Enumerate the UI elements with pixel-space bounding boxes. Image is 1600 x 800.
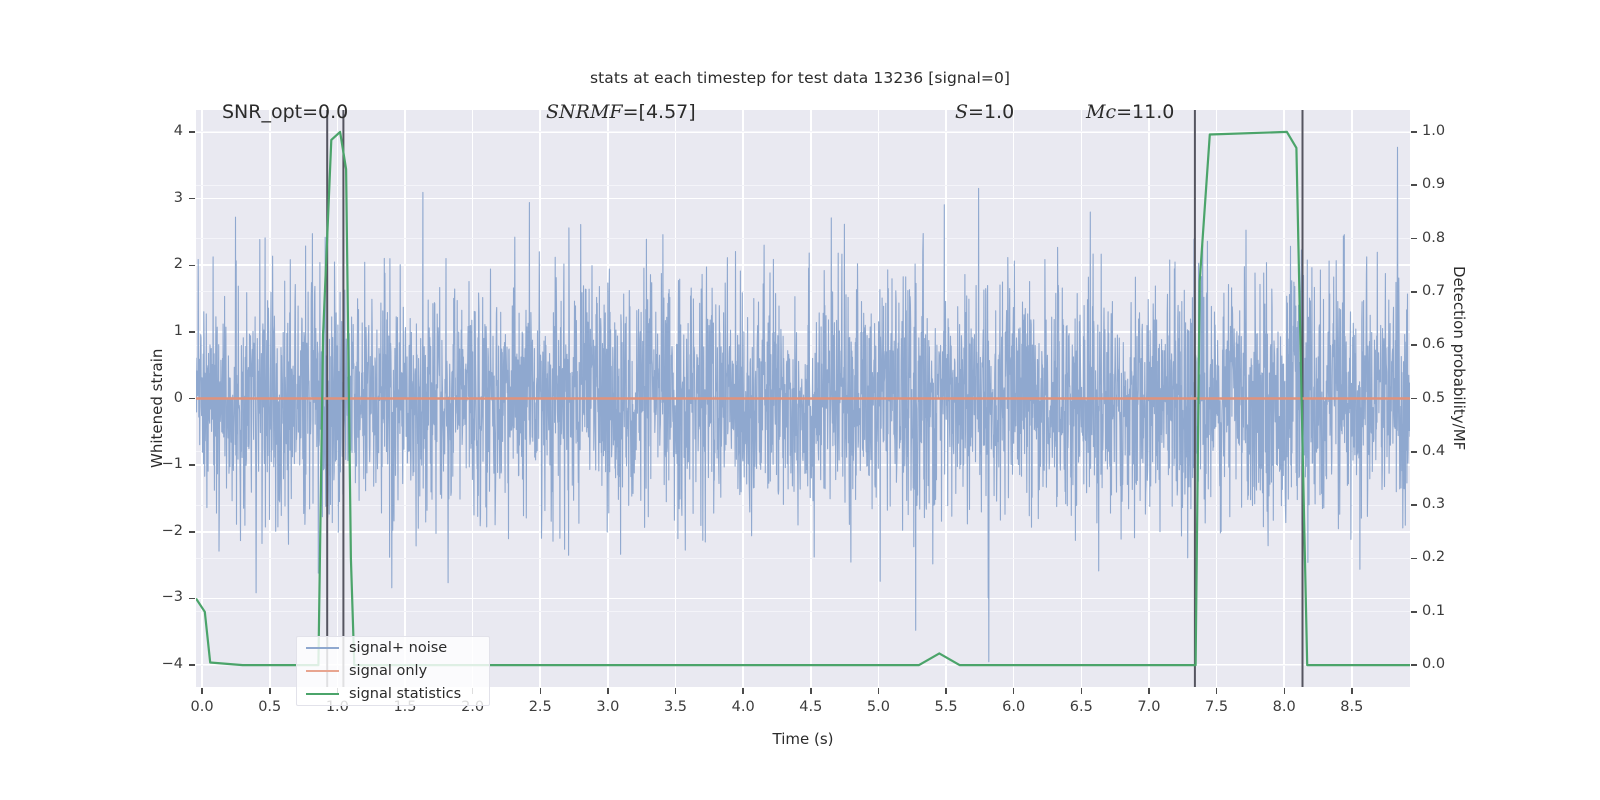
tick-mark xyxy=(1411,238,1417,240)
annotation-s-value: =1.0 xyxy=(968,101,1014,123)
page-title: stats at each timestep for test data 132… xyxy=(0,69,1600,87)
annotation-mc-symbol: M xyxy=(1086,101,1105,123)
tick-mark xyxy=(189,265,195,267)
annotation-snr-mf-symbol: SNR xyxy=(546,101,590,123)
tick-mark xyxy=(189,531,195,533)
annotation-snr-mf: SNRMF=[4.57] xyxy=(546,101,696,123)
tick-mark xyxy=(1148,688,1150,694)
legend-item-2[interactable]: signal statistics xyxy=(297,684,489,705)
tick-label: −3 xyxy=(0,589,183,605)
y-axis-left-label: Whitened strain xyxy=(148,349,166,468)
tick-label: 5.5 xyxy=(916,699,976,715)
tick-label: −4 xyxy=(0,656,183,672)
gravitational-wave-stats-figure: stats at each timestep for test data 132… xyxy=(0,0,1600,800)
tick-mark xyxy=(1284,688,1286,694)
tick-mark xyxy=(1411,344,1417,346)
tick-mark xyxy=(1216,688,1218,694)
legend-label: signal+ noise xyxy=(349,640,447,656)
legend-label: signal only xyxy=(349,663,427,679)
tick-mark xyxy=(1411,131,1417,133)
tick-label: 8.5 xyxy=(1322,699,1382,715)
tick-label: 7.0 xyxy=(1119,699,1179,715)
tick-label: 2 xyxy=(0,256,183,272)
tick-label: 8.0 xyxy=(1254,699,1314,715)
tick-label: 5.0 xyxy=(848,699,908,715)
tick-label: 1.0 xyxy=(1422,123,1445,139)
tick-label: 0.8 xyxy=(1422,230,1445,246)
tick-mark xyxy=(878,688,880,694)
tick-mark xyxy=(1411,611,1417,613)
annotation-snr-mf-value: =[4.57] xyxy=(623,101,696,123)
plot-area xyxy=(196,110,1410,687)
tick-label: 0.7 xyxy=(1422,283,1445,299)
tick-label: 0.0 xyxy=(1422,656,1445,672)
legend-swatch-icon xyxy=(306,670,339,672)
tick-label: 4.0 xyxy=(713,699,773,715)
tick-mark xyxy=(1013,688,1015,694)
tick-mark xyxy=(607,688,609,694)
tick-mark xyxy=(189,598,195,600)
legend[interactable]: signal+ noisesignal onlysignal statistic… xyxy=(296,636,490,706)
tick-label: 0.9 xyxy=(1422,176,1445,192)
tick-mark xyxy=(1411,504,1417,506)
tick-mark xyxy=(189,198,195,200)
tick-mark xyxy=(269,688,271,694)
annotation-snr-mf-subscript: M xyxy=(590,101,609,123)
series-signal-statistics xyxy=(196,110,1410,687)
tick-mark xyxy=(810,688,812,694)
tick-label: −2 xyxy=(0,523,183,539)
annotation-mc: Mc=11.0 xyxy=(1086,101,1174,123)
legend-swatch-icon xyxy=(306,647,339,649)
tick-mark xyxy=(742,688,744,694)
tick-mark xyxy=(1411,558,1417,560)
tick-label: 6.5 xyxy=(1051,699,1111,715)
annotation-mc-value: =11.0 xyxy=(1116,101,1174,123)
tick-mark xyxy=(189,664,195,666)
tick-label: 0.3 xyxy=(1422,496,1445,512)
tick-label: 0.2 xyxy=(1422,549,1445,565)
tick-mark xyxy=(189,131,195,133)
tick-label: 2.5 xyxy=(510,699,570,715)
tick-mark xyxy=(1411,291,1417,293)
tick-mark xyxy=(189,331,195,333)
tick-label: 4.5 xyxy=(781,699,841,715)
tick-mark xyxy=(1351,688,1353,694)
annotation-snr-mf-suffix: F xyxy=(609,101,622,123)
tick-label: 3.5 xyxy=(646,699,706,715)
tick-label: 3 xyxy=(0,190,183,206)
annotation-s-symbol: S xyxy=(955,101,968,123)
tick-label: 0.6 xyxy=(1422,336,1445,352)
tick-label: 0.5 xyxy=(1422,390,1445,406)
tick-mark xyxy=(1411,664,1417,666)
tick-mark xyxy=(189,398,195,400)
tick-label: 0.1 xyxy=(1422,603,1445,619)
x-axis-label: Time (s) xyxy=(196,730,1410,748)
tick-mark xyxy=(675,688,677,694)
annotation-s: S=1.0 xyxy=(955,101,1014,123)
annotation-mc-subscript: c xyxy=(1105,101,1116,123)
tick-mark xyxy=(1081,688,1083,694)
tick-label: 1 xyxy=(0,323,183,339)
legend-item-1[interactable]: signal only xyxy=(297,661,489,682)
tick-label: 7.5 xyxy=(1187,699,1247,715)
tick-mark xyxy=(1411,451,1417,453)
tick-label: 6.0 xyxy=(984,699,1044,715)
tick-mark xyxy=(201,688,203,694)
tick-mark xyxy=(189,464,195,466)
tick-label: 3.0 xyxy=(578,699,638,715)
signal-statistics-path xyxy=(196,132,1410,665)
tick-label: 0.0 xyxy=(172,699,232,715)
tick-mark xyxy=(540,688,542,694)
legend-label: signal statistics xyxy=(349,686,461,702)
annotation-snr-opt: SNR_opt=0.0 xyxy=(222,101,348,123)
tick-mark xyxy=(1411,398,1417,400)
tick-label: 0.4 xyxy=(1422,443,1445,459)
tick-label: 0.5 xyxy=(240,699,300,715)
legend-item-0[interactable]: signal+ noise xyxy=(297,638,489,659)
y-axis-right-label: Detection probability/MF xyxy=(1450,266,1468,450)
tick-mark xyxy=(1411,184,1417,186)
tick-label: 4 xyxy=(0,123,183,139)
legend-swatch-icon xyxy=(306,693,339,695)
tick-mark xyxy=(945,688,947,694)
